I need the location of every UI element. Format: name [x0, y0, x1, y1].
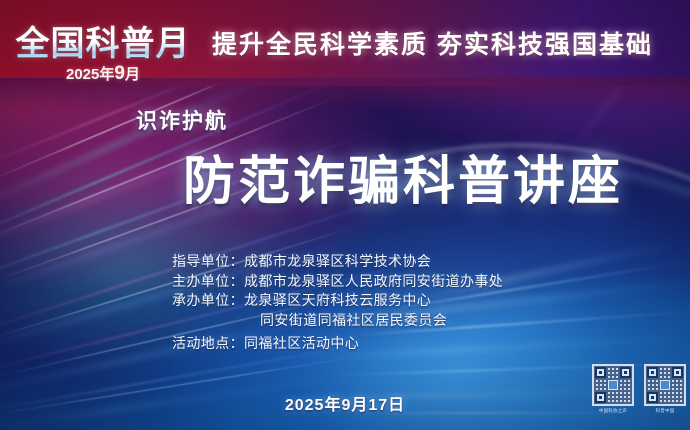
qr-code-item[interactable]: 中国科协之声: [592, 364, 634, 414]
logo-month-unit: 月: [125, 66, 140, 83]
kepu-month-logo: 全国科普月 2025年9月: [8, 25, 198, 83]
organizer-info-block: 指导单位：成都市龙泉驿区科学技术协会主办单位：成都市龙泉驿区人民政府同安街道办事…: [172, 252, 503, 354]
kepu-logo-main-text: 全国科普月: [8, 25, 198, 63]
poster-canvas: 全国科普月 2025年9月 提升全民科学素质 夯实科技强国基础 识诈护航 防范诈…: [0, 0, 690, 430]
event-date: 2025年9月17日: [0, 395, 690, 417]
info-line: 活动地点：同福社区活动中心: [172, 334, 503, 354]
banner-slogan: 提升全民科学素质 夯实科技强国基础: [212, 28, 653, 62]
info-line: 同安街道同福社区居民委员会: [172, 311, 503, 331]
logo-year-unit: 年: [99, 66, 114, 83]
info-line: 指导单位：成都市龙泉驿区科学技术协会: [172, 252, 503, 272]
poster-subtitle: 识诈护航: [136, 109, 228, 135]
qr-code-image[interactable]: [592, 364, 634, 406]
qr-code-image[interactable]: [644, 364, 686, 406]
qr-code-group: 中国科协之声科普中国: [592, 364, 686, 414]
logo-year: 2025: [66, 66, 99, 83]
top-banner: 全国科普月 2025年9月 提升全民科学素质 夯实科技强国基础: [0, 0, 690, 86]
qr-code-label: 科普中国: [644, 408, 686, 414]
poster-main-title: 防范诈骗科普讲座: [183, 152, 623, 212]
logo-month: 9: [114, 63, 125, 84]
kepu-logo-date-text: 2025年9月: [8, 65, 198, 83]
info-line: 主办单位：成都市龙泉驿区人民政府同安街道办事处: [172, 272, 503, 292]
info-line: 承办单位：龙泉驿区天府科技云服务中心: [172, 291, 503, 311]
qr-code-label: 中国科协之声: [592, 408, 634, 414]
qr-code-item[interactable]: 科普中国: [644, 364, 686, 414]
